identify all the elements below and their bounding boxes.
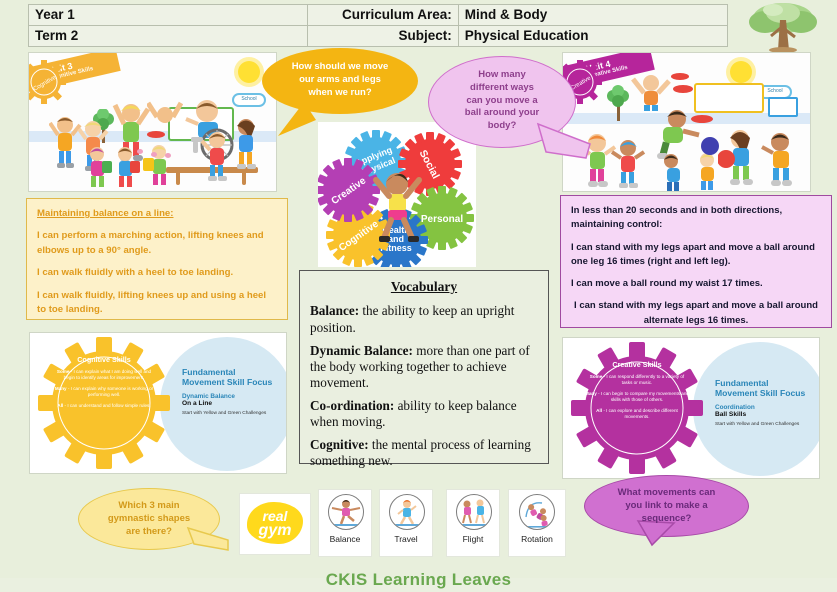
- bubble-question-bottom-right: What movements can you link to make a se…: [584, 475, 749, 537]
- subject-label: Subject:: [308, 26, 459, 47]
- bubble-tail: [276, 98, 320, 138]
- poster-page: Year 1 Curriculum Area: Mind & Body Term…: [0, 0, 837, 592]
- fms-left-level-3-text: - I can understand and follow simple rul…: [63, 403, 150, 408]
- curriculum-area-value: Mind & Body: [458, 5, 727, 26]
- outcomes-left-item-3: I can walk fluidly, lifting knees up and…: [37, 289, 277, 318]
- gym-icon-card-flight: Flight: [446, 489, 500, 557]
- real-gym-logo-card: real gym: [239, 493, 311, 555]
- fms-left-level-1-prefix: Some: [57, 369, 70, 374]
- marker-dot: [147, 131, 165, 138]
- bubble-tr-line-5: body?: [444, 120, 560, 133]
- bubble-tr-line-2: different ways: [444, 82, 560, 95]
- fms-left-focus-heading: Fundamental Movement Skill Focus: [182, 367, 280, 388]
- vocabulary-box: Vocabulary Balance: the ability to keep …: [299, 270, 549, 464]
- bubble-br-line-3: sequence?: [600, 513, 733, 526]
- fms-right-gear-title: Creative Skills: [585, 360, 689, 369]
- svg-text:Personal: Personal: [421, 214, 463, 225]
- outcomes-right-item-3: I can stand with my legs apart and move …: [571, 299, 821, 328]
- vocab-term-3: Co-ordination:: [310, 398, 394, 413]
- fms-card-left: Cognitive Skills Some - I can explain wh…: [29, 332, 287, 474]
- ball-icon: [701, 137, 719, 155]
- fms-right-focus: Fundamental Movement Skill Focus Coordin…: [715, 378, 813, 427]
- fms-left-level-2-prefix: Many: [55, 386, 67, 391]
- bubble-tl-line-3: when we run?: [278, 87, 402, 100]
- sun-icon: [238, 61, 260, 83]
- fms-left-level-3: All - I can understand and follow simple…: [52, 403, 156, 409]
- fms-right-level-3-text: - I can explore and describe different m…: [602, 408, 678, 419]
- bubble-question-top-right: How many different ways can you move a b…: [428, 56, 576, 148]
- outcomes-right-item-2: I can move a ball round my waist 17 time…: [571, 277, 821, 291]
- fms-right-level-1: Some - I can respond differently to a va…: [585, 374, 689, 387]
- fms-left-level-1: Some - I can explain what I am doing wel…: [52, 369, 156, 382]
- fms-left-focus-note: Start with Yellow and Green Challenges: [182, 411, 280, 416]
- bubble-bl-line-2: gymnastic shapes: [94, 513, 204, 526]
- fms-left-gear-text: Cognitive Skills Some - I can explain wh…: [52, 355, 156, 409]
- rotation-figure-icon: [519, 494, 555, 530]
- fms-left-focus-sub1: Dynamic Balance: [182, 393, 280, 400]
- kid-figure: [609, 137, 647, 191]
- marker-dot: [151, 152, 157, 157]
- fms-left-focus-sub2: On a Line: [182, 400, 280, 407]
- marker-dot: [165, 153, 171, 158]
- gym-icon-card-balance: Balance: [318, 489, 372, 557]
- real-gym-logo: real gym: [247, 502, 303, 544]
- illustration-right: School: [562, 52, 811, 192]
- fms-right-focus-heading: Fundamental Movement Skill Focus: [715, 378, 813, 399]
- fms-right-level-2: Many - I can begin to compare my movemen…: [585, 391, 689, 404]
- subject-value: Physical Education: [458, 26, 727, 47]
- bubble-tl-line-1: How should we move: [278, 61, 402, 74]
- kid-figure-bench: [200, 129, 234, 185]
- curriculum-area-label: Curriculum Area:: [308, 5, 459, 26]
- sun-icon: [730, 61, 752, 83]
- fms-left-focus: Fundamental Movement Skill Focus Dynamic…: [182, 367, 280, 416]
- fms-card-right: Creative Skills Some - I can respond dif…: [562, 337, 820, 479]
- vocabulary-title: Vocabulary: [310, 279, 538, 295]
- fms-left-level-2: Many - I can explain why someone is work…: [52, 386, 156, 399]
- gym-icon-label-flight: Flight: [447, 534, 499, 544]
- kid-figure-card: [141, 143, 181, 191]
- outcomes-right-heading: In less than 20 seconds and in both dire…: [571, 204, 821, 233]
- kid-figure-ball: [718, 125, 762, 191]
- flight-figure-icon: [456, 494, 492, 530]
- outcomes-box-left: Maintaining balance on a line: I can per…: [26, 198, 288, 320]
- outcomes-right-item-1: I can stand with my legs apart and move …: [571, 241, 821, 270]
- fms-left-level-1-text: - I can explain what I am doing well and…: [64, 369, 151, 380]
- outcomes-box-right: In less than 20 seconds and in both dire…: [560, 195, 832, 328]
- header-table: Year 1 Curriculum Area: Mind & Body Term…: [28, 4, 728, 47]
- vocab-term-2: Dynamic Balance:: [310, 343, 413, 358]
- vocabulary-entry: Balance: the ability to keep an upright …: [310, 303, 538, 335]
- fms-left-gear-title: Cognitive Skills: [52, 355, 156, 364]
- term-cell: Term 2: [29, 26, 308, 47]
- outcomes-left-heading: Maintaining balance on a line:: [37, 207, 277, 221]
- gym-icon-label-balance: Balance: [319, 534, 371, 544]
- school-building-right: [694, 83, 764, 113]
- marker-dot: [673, 85, 693, 93]
- illustration-left: School: [28, 52, 277, 192]
- bubble-question-top-left: How should we move our arms and legs whe…: [262, 48, 418, 114]
- gym-icon-label-travel: Travel: [380, 534, 432, 544]
- tree-logo-icon: [737, 0, 829, 52]
- kid-figure: [760, 129, 800, 191]
- outcomes-left-item-1: I can perform a marching action, lifting…: [37, 229, 277, 258]
- gym-icon-card-travel: Travel: [379, 489, 433, 557]
- fms-right-level-1-prefix: Some: [590, 374, 603, 379]
- fms-right-level-3: All - I can explore and describe differe…: [585, 408, 689, 421]
- fms-right-level-2-prefix: Many: [585, 391, 597, 396]
- bubble-tr-line-4: ball around your: [444, 107, 560, 120]
- header-row-year: Year 1 Curriculum Area: Mind & Body: [29, 5, 728, 26]
- gym-icon-card-rotation: Rotation: [508, 489, 566, 557]
- vocabulary-entry: Co-ordination: ability to keep balance w…: [310, 398, 538, 430]
- bubble-bl-line-3: are there?: [94, 526, 204, 539]
- vocab-term-4: Cognitive:: [310, 437, 369, 452]
- page-title: CKIS Learning Leaves: [0, 570, 837, 590]
- sign-post-right: [768, 97, 798, 117]
- bubble-br-line-2: you link to make a: [600, 500, 733, 513]
- vocabulary-entry: Dynamic Balance: more than one part of t…: [310, 343, 538, 391]
- year-cell: Year 1: [29, 5, 308, 26]
- real-gym-logo-line2: gym: [247, 522, 303, 540]
- marker-dot: [671, 73, 689, 80]
- fms-left-level-2-text: - I can explain why someone is working o…: [67, 386, 154, 397]
- bubble-question-bottom-left: Which 3 main gymnastic shapes are there?: [78, 488, 220, 550]
- fms-right-gear-text: Creative Skills Some - I can respond dif…: [585, 360, 689, 421]
- vocabulary-entry: Cognitive: the mental process of learnin…: [310, 437, 538, 469]
- header-row-term: Term 2 Subject: Physical Education: [29, 26, 728, 47]
- fms-right-level-2-text: - I can begin to compare my movements an…: [597, 391, 689, 402]
- fms-right-focus-sub1: Coordination: [715, 404, 813, 411]
- fms-right-focus-sub2: Ball Skills: [715, 411, 813, 418]
- travel-figure-icon: [389, 494, 425, 530]
- bubble-tr-line-3: can you move a: [444, 95, 560, 108]
- marker-dot: [691, 115, 713, 123]
- bubble-tl-line-2: our arms and legs: [278, 74, 402, 87]
- vocab-term-1: Balance:: [310, 303, 359, 318]
- marker-dot: [137, 149, 143, 154]
- fms-right-level-1-text: - I can respond differently to a variety…: [602, 374, 684, 385]
- bubble-br-line-1: What movements can: [600, 487, 733, 500]
- balance-figure-icon: [328, 494, 364, 530]
- bubble-tr-line-1: How many: [444, 69, 560, 82]
- fms-right-focus-note: Start with Yellow and Green Challenges: [715, 422, 813, 427]
- outcomes-left-item-2: I can walk fluidly with a heel to toe la…: [37, 266, 277, 280]
- bubble-bl-line-1: Which 3 main: [94, 500, 204, 513]
- gym-icon-label-rotation: Rotation: [509, 534, 565, 544]
